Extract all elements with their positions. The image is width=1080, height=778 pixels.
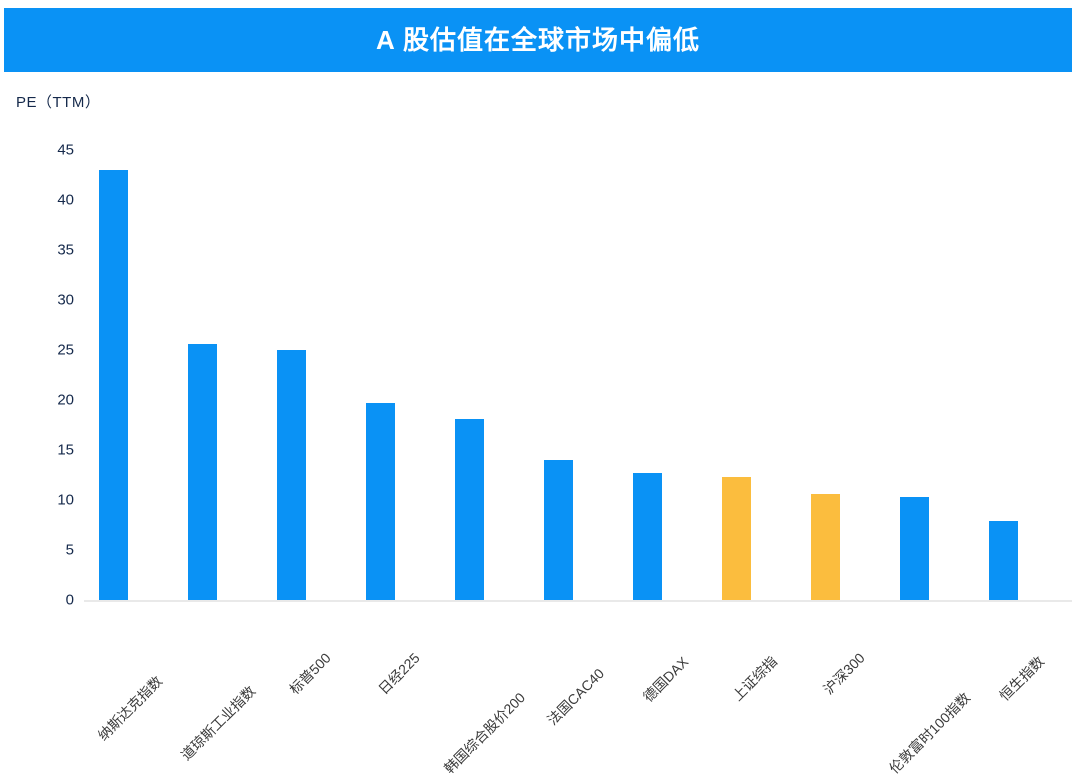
bar (188, 344, 217, 600)
plot-area: 051015202530354045 纳斯达克指数道琼斯工业指数标普500日经2… (0, 0, 1080, 758)
y-axis-tick-label: 35 (18, 242, 74, 259)
x-axis-line (84, 600, 1072, 602)
y-axis-tick-label: 15 (18, 442, 74, 459)
y-axis-tick-label: 0 (18, 592, 74, 609)
bar (989, 521, 1018, 600)
bar (722, 477, 751, 600)
x-axis-category-label: 德国DAX (678, 612, 732, 666)
x-axis-category-label: 日经225 (410, 612, 460, 662)
chart-page: A 股估值在全球市场中偏低 PE（TTM） 051015202530354045… (0, 0, 1080, 758)
bar (900, 497, 929, 600)
x-axis-category-label: 沪深300 (855, 612, 905, 662)
bar (277, 350, 306, 600)
y-axis-tick-label: 25 (18, 342, 74, 359)
x-axis-category-label: 上证综指 (767, 612, 821, 666)
bar (633, 473, 662, 600)
y-axis-tick-label: 20 (18, 392, 74, 409)
bar (99, 170, 128, 600)
y-axis-tick-label: 5 (18, 542, 74, 559)
x-axis-category-label: 标普500 (321, 612, 371, 662)
x-axis-category-label: 纳斯达克指数 (152, 612, 226, 686)
bar (366, 403, 395, 600)
bar (544, 460, 573, 600)
y-axis-tick-label: 30 (18, 292, 74, 309)
y-axis-tick-label: 45 (18, 142, 74, 159)
bar (455, 419, 484, 600)
y-axis-tick-label: 40 (18, 192, 74, 209)
bar (811, 494, 840, 600)
x-axis-category-label: 法国CAC40 (594, 612, 660, 678)
y-axis-tick-label: 10 (18, 492, 74, 509)
